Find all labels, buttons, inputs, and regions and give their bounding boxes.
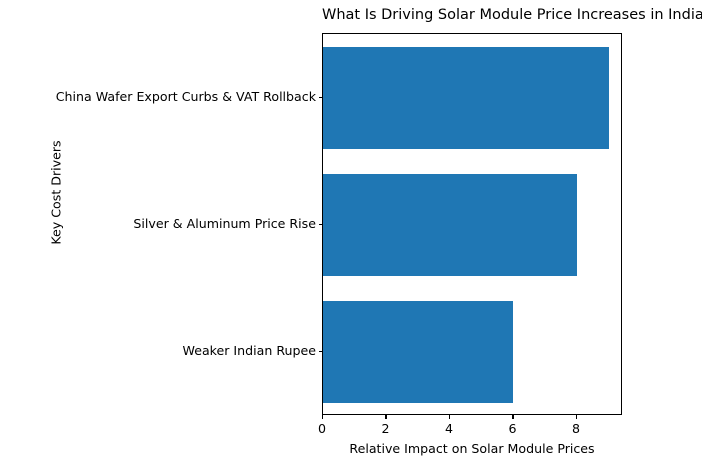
chart-figure: What Is Driving Solar Module Price Incre… xyxy=(0,0,702,470)
y-tick-mark xyxy=(319,97,323,98)
x-tick-mark xyxy=(385,415,386,419)
x-tick-label: 2 xyxy=(365,421,405,436)
plot-area xyxy=(322,33,622,415)
x-tick-mark xyxy=(449,415,450,419)
bar xyxy=(323,301,513,403)
chart-title: What Is Driving Solar Module Price Incre… xyxy=(322,6,622,24)
y-tick-label: Weaker Indian Rupee xyxy=(6,344,316,358)
x-tick-label: 8 xyxy=(556,421,596,436)
x-tick-label: 4 xyxy=(429,421,469,436)
y-tick-label: Silver & Aluminum Price Rise xyxy=(6,217,316,231)
y-tick-label: China Wafer Export Curbs & VAT Rollback xyxy=(6,90,316,104)
x-tick-mark xyxy=(576,415,577,419)
y-tick-mark xyxy=(319,224,323,225)
bar xyxy=(323,47,609,149)
x-tick-label: 0 xyxy=(302,421,342,436)
y-tick-mark xyxy=(319,351,323,352)
bars-layer xyxy=(323,34,621,414)
x-axis-title: Relative Impact on Solar Module Prices xyxy=(322,441,622,456)
x-tick-mark xyxy=(512,415,513,419)
y-axis-title: Key Cost Drivers xyxy=(49,133,64,253)
x-tick-mark xyxy=(322,415,323,419)
x-tick-label: 6 xyxy=(492,421,532,436)
bar xyxy=(323,174,577,276)
